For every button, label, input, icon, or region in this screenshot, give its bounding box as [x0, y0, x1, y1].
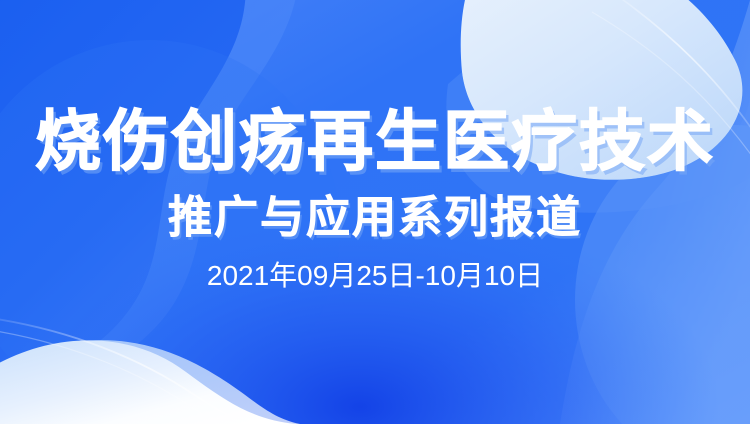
promo-banner: 烧伤创疡再生医疗技术 推广与应用系列报道 2021年09月25日-10月10日 [0, 0, 750, 424]
background-decoration [0, 0, 750, 424]
